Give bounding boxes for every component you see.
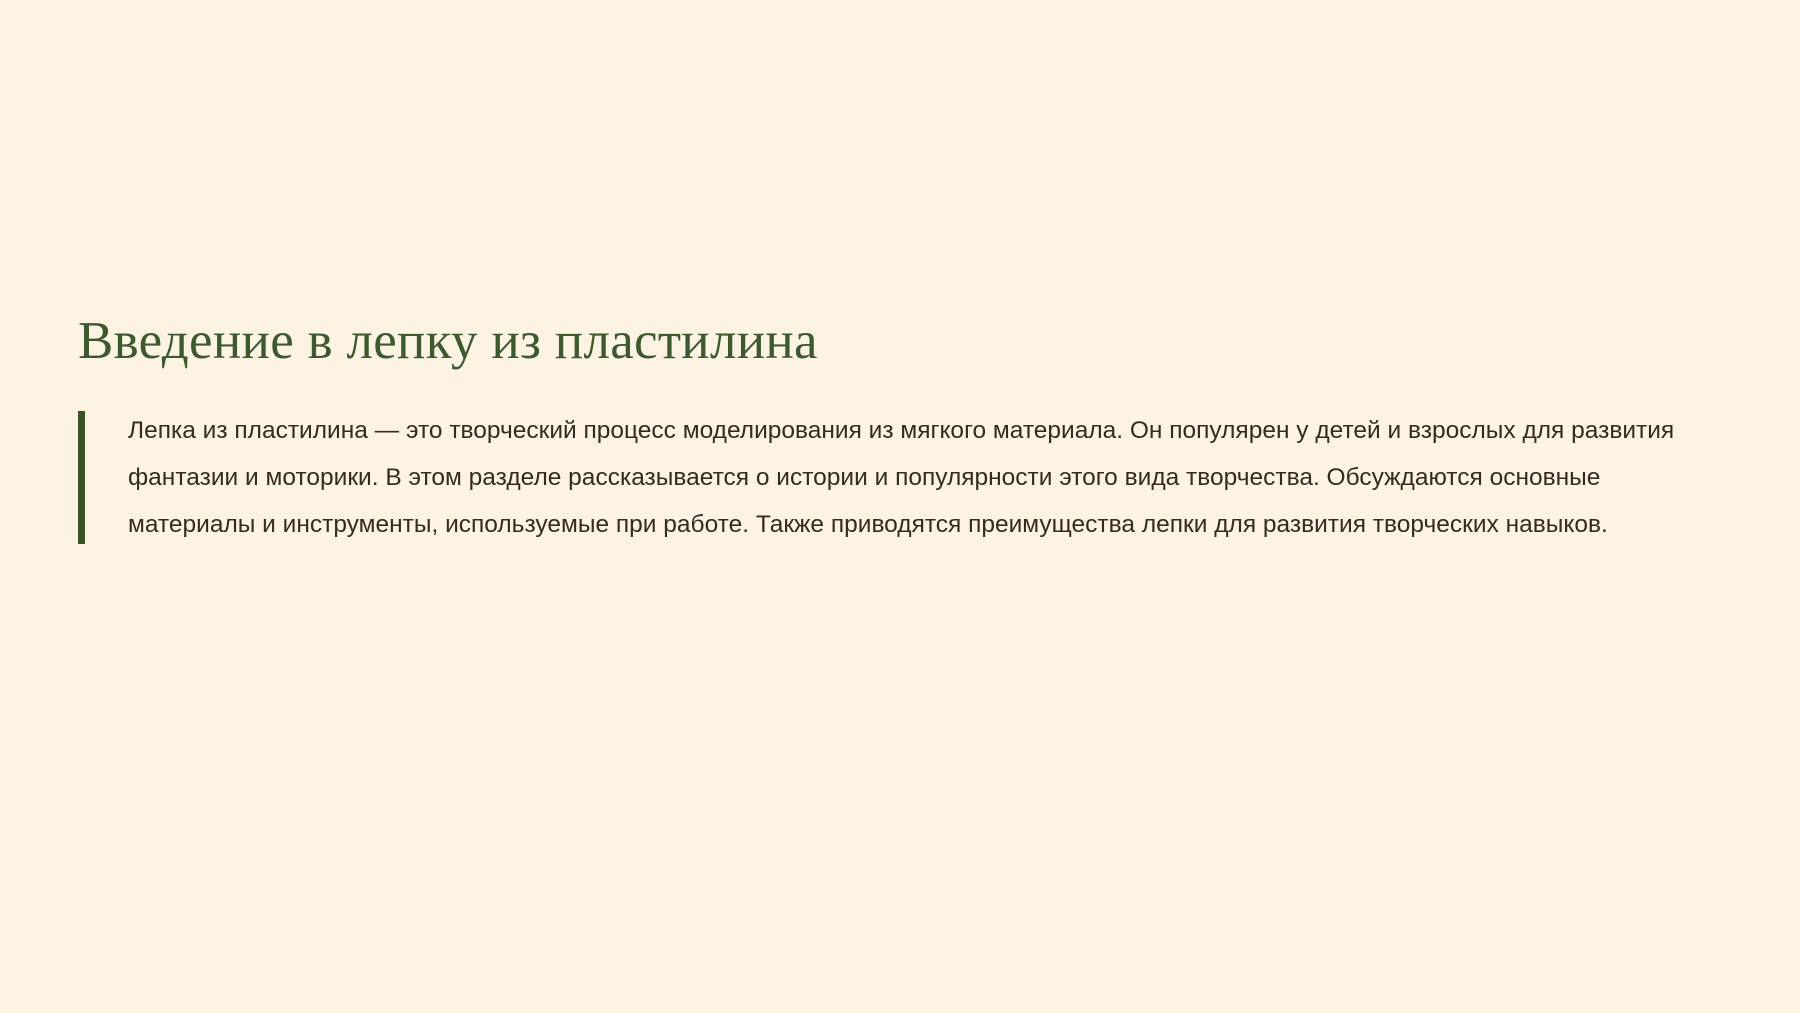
callout-accent-bar [78, 411, 85, 544]
callout-block: Лепка из пластилина — это творческий про… [78, 407, 1718, 548]
content-container: Введение в лепку из пластилина Лепка из … [78, 310, 1718, 548]
callout-paragraph: Лепка из пластилина — это творческий про… [128, 407, 1718, 548]
page-title: Введение в лепку из пластилина [78, 310, 1718, 373]
document-page: Введение в лепку из пластилина Лепка из … [0, 0, 1800, 1013]
